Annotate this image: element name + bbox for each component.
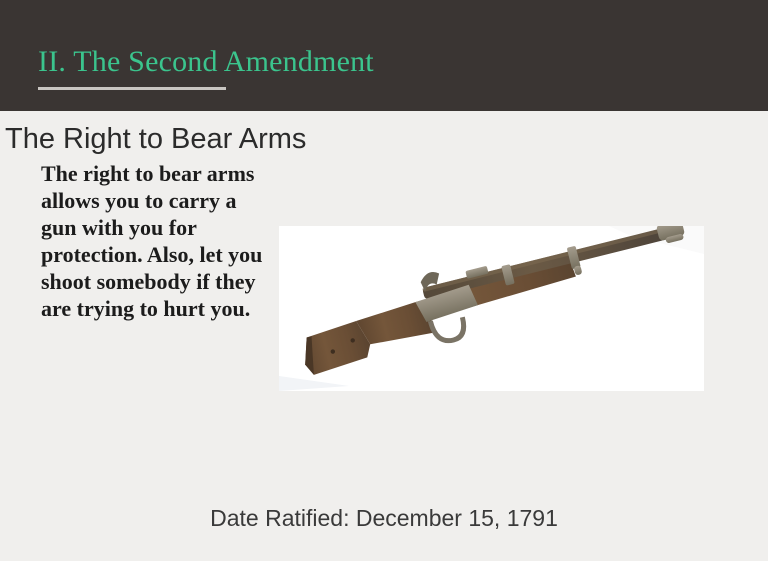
slide-header-band: II. The Second Amendment (0, 0, 768, 111)
slide-title: II. The Second Amendment (38, 44, 374, 80)
musket-rifle-illustration (279, 226, 704, 391)
musket-rifle-photo (279, 226, 704, 391)
title-underline-rule (38, 87, 226, 90)
body-paragraph: The right to bear arms allows you to car… (41, 160, 263, 322)
section-heading: The Right to Bear Arms (5, 122, 306, 156)
slide: II. The Second Amendment The Right to Be… (0, 0, 768, 561)
date-ratified-caption: Date Ratified: December 15, 1791 (0, 503, 768, 533)
